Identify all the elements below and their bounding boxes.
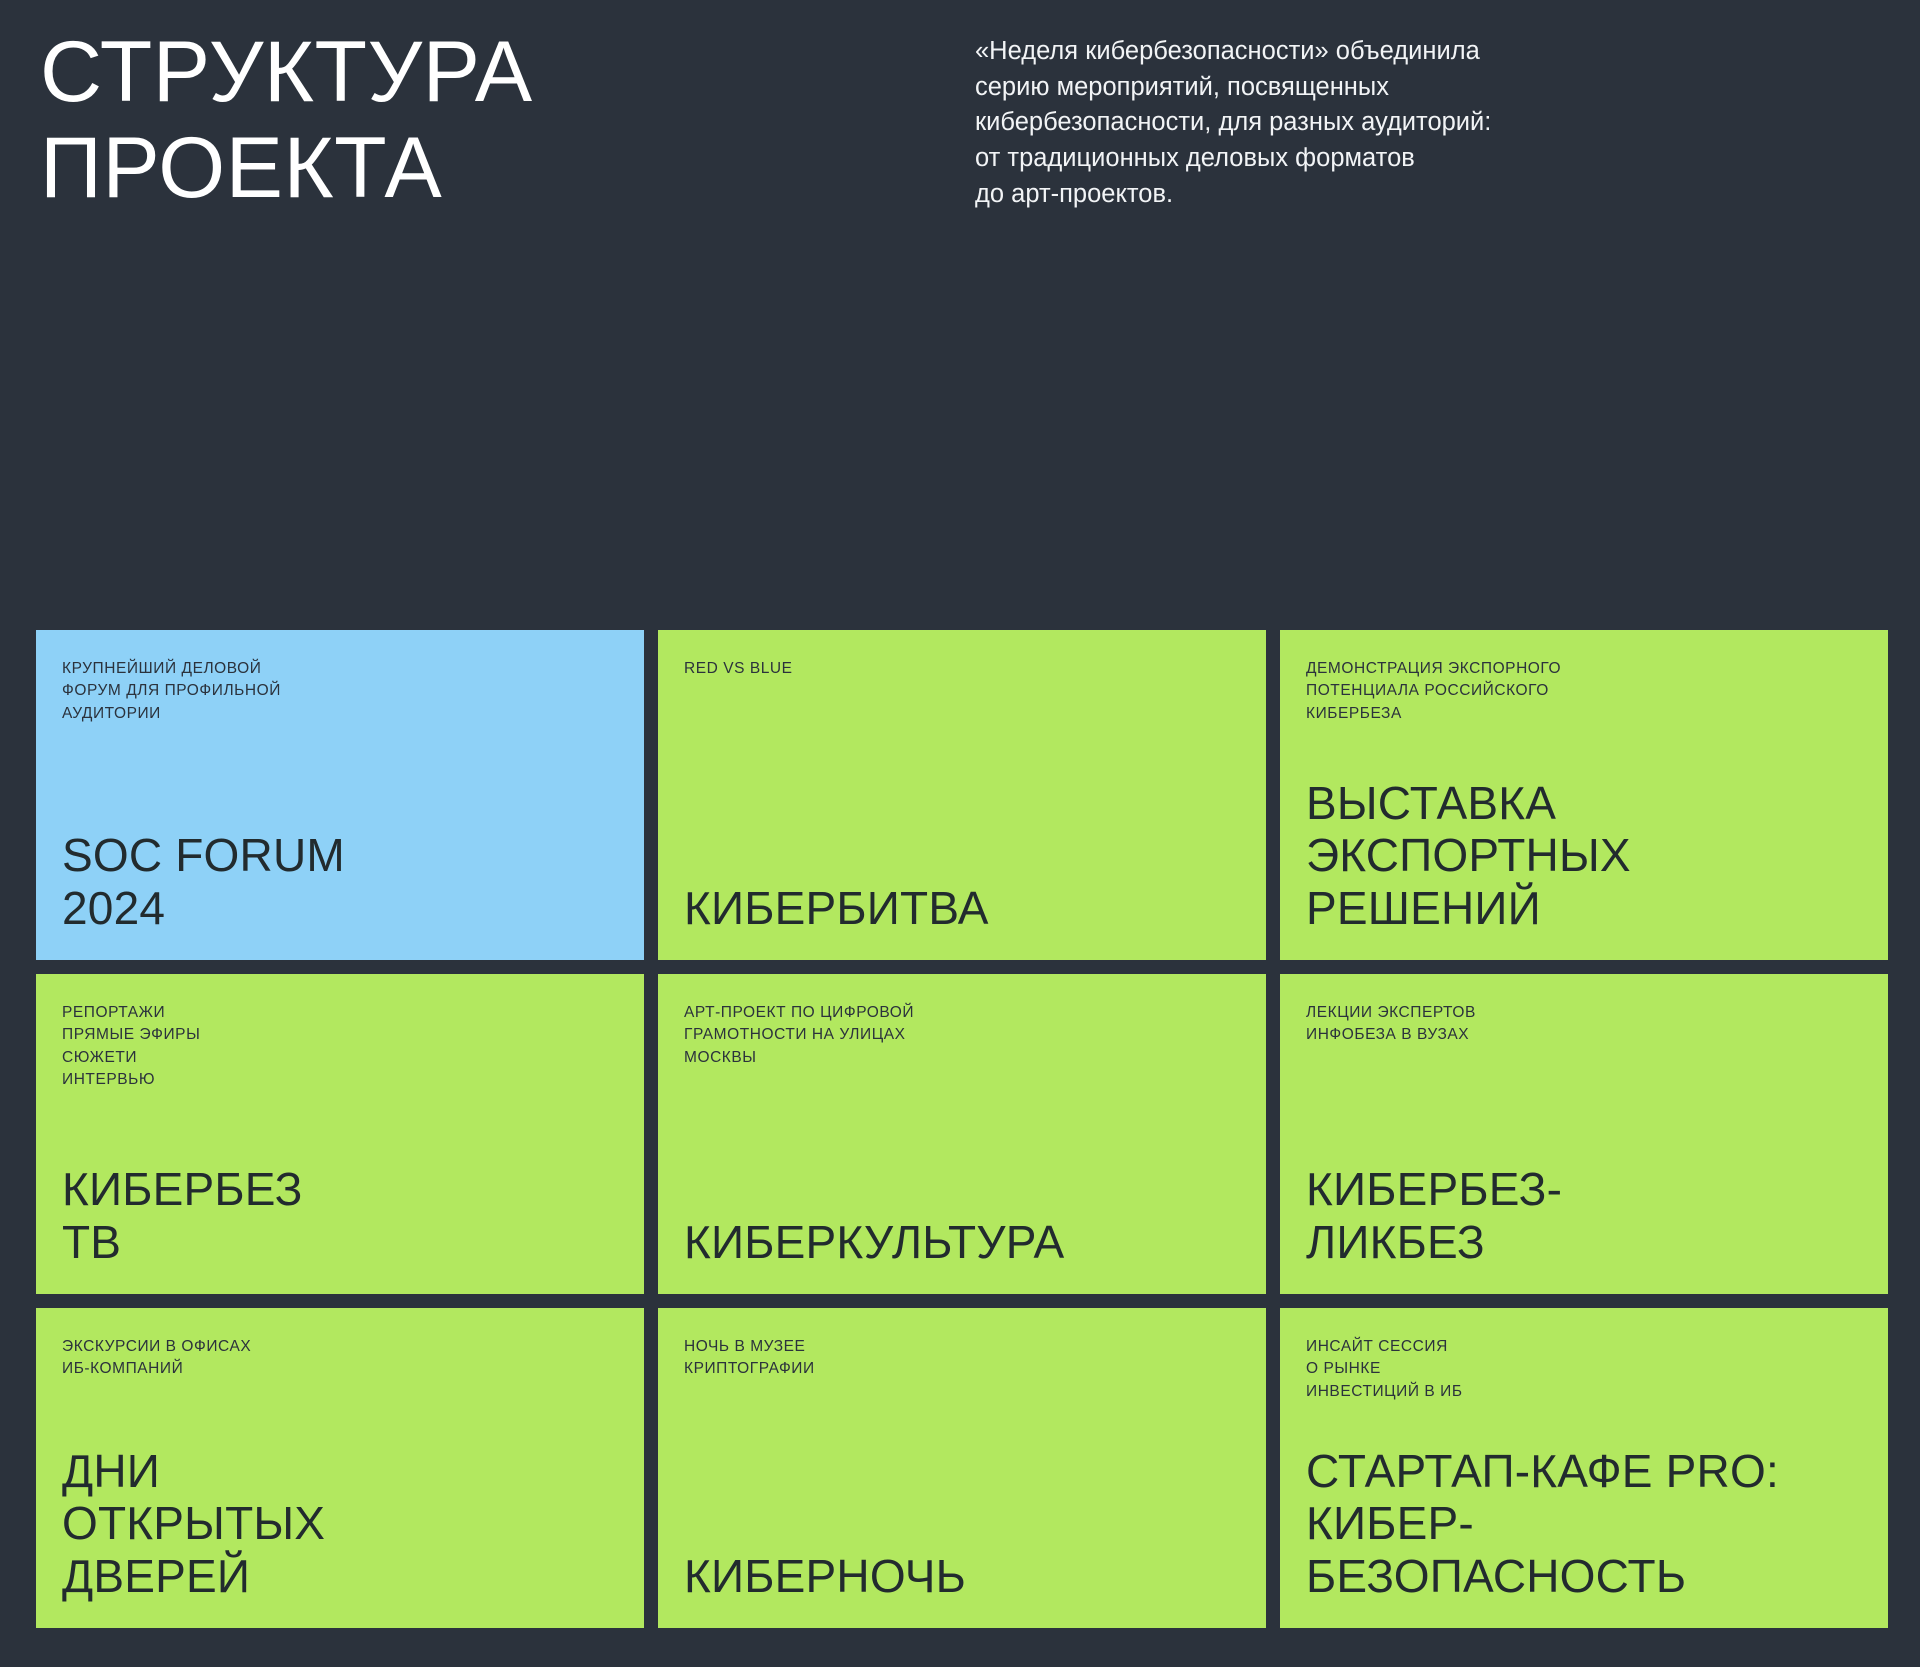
card-kicker: ИНСАЙТ СЕССИЯ О РЫНКЕ ИНВЕСТИЦИЙ В ИБ [1306,1336,1862,1403]
card-kicker: НОЧЬ В МУЗЕЕ КРИПТОГРАФИИ [684,1336,1240,1381]
page-title: СТРУКТУРА ПРОЕКТА [40,24,740,217]
card-title: ВЫСТАВКА ЭКСПОРТНЫХ РЕШЕНИЙ [1306,777,1862,934]
project-structure-grid: КРУПНЕЙШИЙ ДЕЛОВОЙ ФОРУМ ДЛЯ ПРОФИЛЬНОЙ … [36,630,1888,1628]
intro-paragraph: «Неделя кибербезопасности» объединила се… [975,34,1765,212]
card-kicker: ДЕМОНСТРАЦИЯ ЭКСПОРНОГО ПОТЕНЦИАЛА РОССИ… [1306,658,1862,725]
card-kicker: РЕПОРТАЖИ ПРЯМЫЕ ЭФИРЫ СЮЖЕТИ ИНТЕРВЬЮ [62,1002,618,1092]
card-dni-otkrytyh-dverey[interactable]: ЭКСКУРСИИ В ОФИСАХ ИБ-КОМПАНИЙ ДНИ ОТКРЫ… [36,1308,644,1628]
card-kicker: RED vs BLUE [684,658,1240,680]
card-title: SOC FORUM 2024 [62,829,618,934]
card-startap-kafe-pro[interactable]: ИНСАЙТ СЕССИЯ О РЫНКЕ ИНВЕСТИЦИЙ В ИБ СТ… [1280,1308,1888,1628]
card-vystavka-eksportnyh-resheniy[interactable]: ДЕМОНСТРАЦИЯ ЭКСПОРНОГО ПОТЕНЦИАЛА РОССИ… [1280,630,1888,960]
card-kibernoch[interactable]: НОЧЬ В МУЗЕЕ КРИПТОГРАФИИ КИБЕРНОЧЬ [658,1308,1266,1628]
card-kiberbitva[interactable]: RED vs BLUE КИБЕРБИТВА [658,630,1266,960]
card-soc-forum[interactable]: КРУПНЕЙШИЙ ДЕЛОВОЙ ФОРУМ ДЛЯ ПРОФИЛЬНОЙ … [36,630,644,960]
card-title: КИБЕРНОЧЬ [684,1550,1240,1602]
card-title: КИБЕРБЕЗ ТВ [62,1163,618,1268]
card-title: КИБЕРКУЛЬТУРА [684,1216,1240,1268]
card-kicker: ЭКСКУРСИИ В ОФИСАХ ИБ-КОМПАНИЙ [62,1336,618,1381]
card-kicker: ЛЕКЦИИ ЭКСПЕРТОВ ИНФОБЕЗА В ВУЗАХ [1306,1002,1862,1047]
slide-root: СТРУКТУРА ПРОЕКТА «Неделя кибербезопасно… [0,0,1920,1667]
card-title: КИБЕРБЕЗ- ЛИКБЕЗ [1306,1163,1862,1268]
card-kicker: АРТ-ПРОЕКТ ПО ЦИФРОВОЙ ГРАМОТНОСТИ НА УЛ… [684,1002,1240,1069]
card-title: КИБЕРБИТВА [684,882,1240,934]
card-title: ДНИ ОТКРЫТЫХ ДВЕРЕЙ [62,1445,618,1602]
card-kiberbez-likbez[interactable]: ЛЕКЦИИ ЭКСПЕРТОВ ИНФОБЕЗА В ВУЗАХ КИБЕРБ… [1280,974,1888,1294]
card-kicker: КРУПНЕЙШИЙ ДЕЛОВОЙ ФОРУМ ДЛЯ ПРОФИЛЬНОЙ … [62,658,618,725]
slide-header: СТРУКТУРА ПРОЕКТА «Неделя кибербезопасно… [0,0,1920,500]
card-kiberkultura[interactable]: АРТ-ПРОЕКТ ПО ЦИФРОВОЙ ГРАМОТНОСТИ НА УЛ… [658,974,1266,1294]
card-title: СТАРТАП-КАФЕ PRO: КИБЕР- БЕЗОПАСНОСТЬ [1306,1445,1862,1602]
card-kiberbez-tv[interactable]: РЕПОРТАЖИ ПРЯМЫЕ ЭФИРЫ СЮЖЕТИ ИНТЕРВЬЮ К… [36,974,644,1294]
